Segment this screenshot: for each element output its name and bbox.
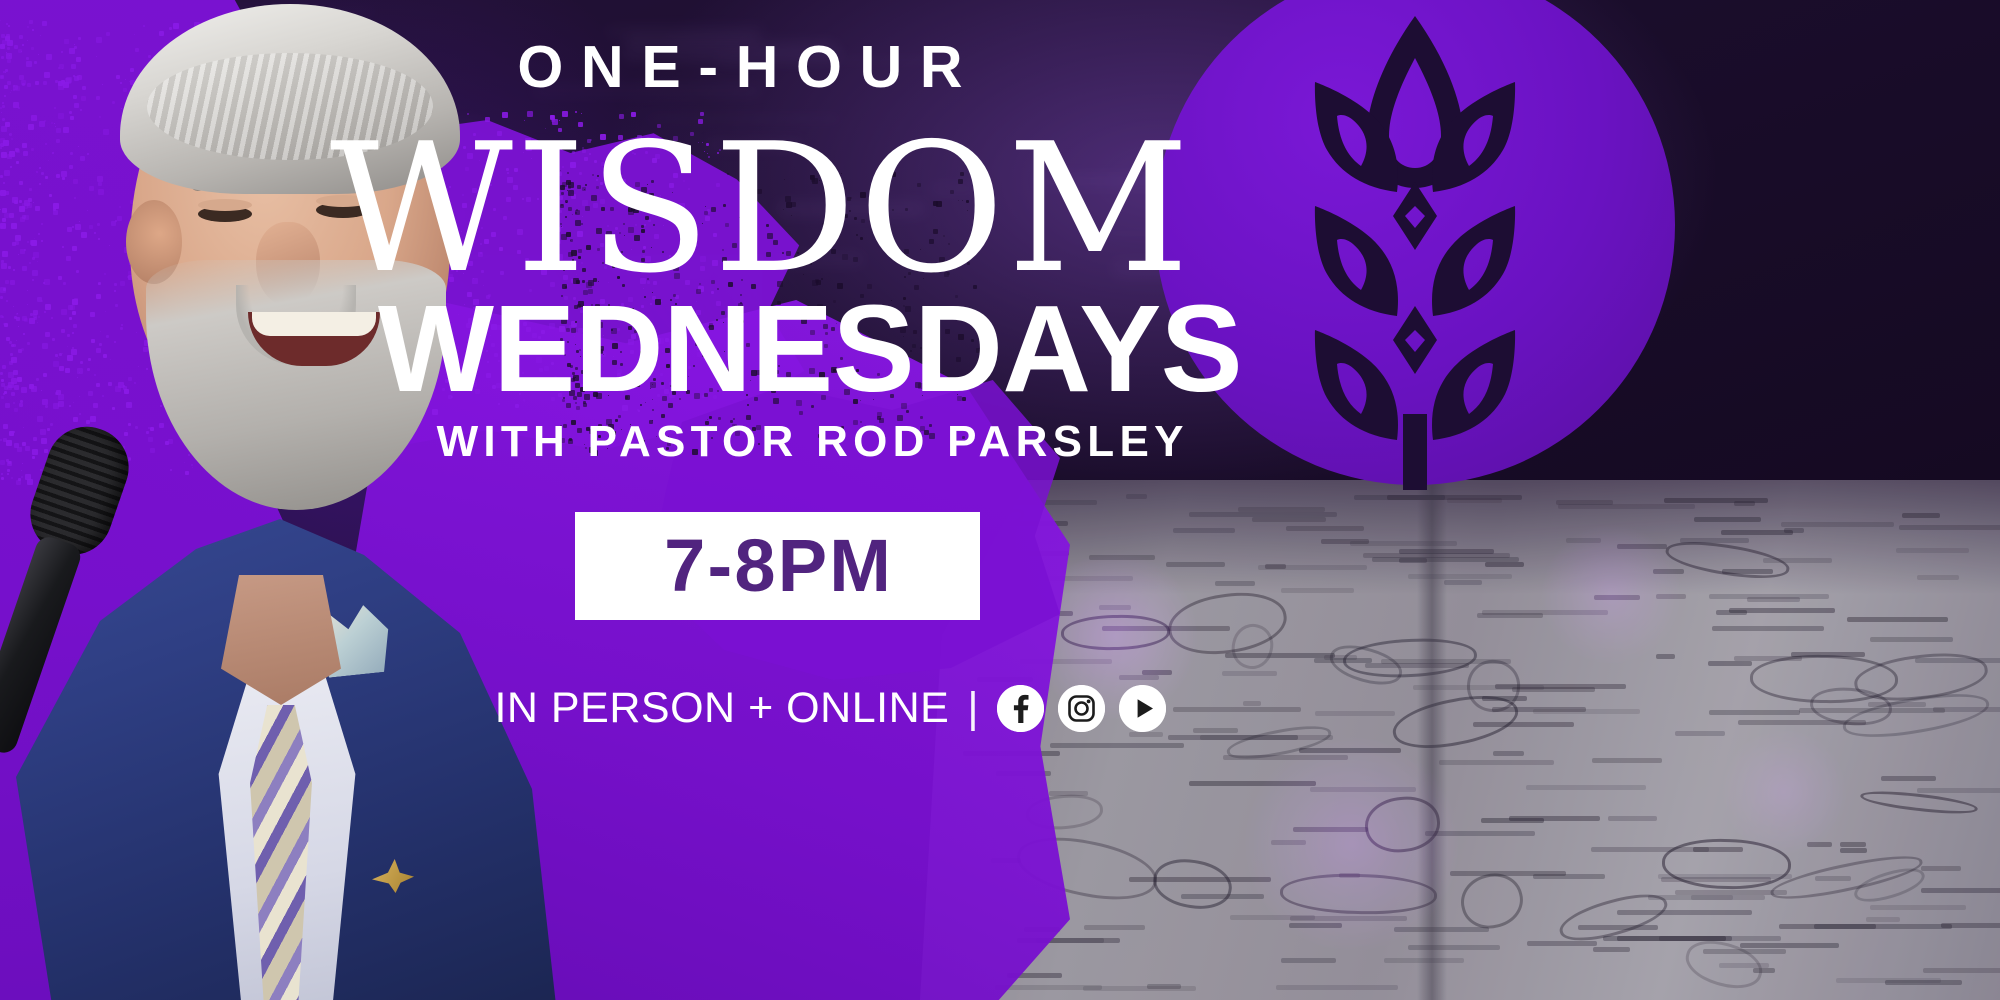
time-badge: 7-8PM xyxy=(575,512,980,620)
text-content: ONE-HOUR WISDOM WEDNESDAYS WITH PASTOR R… xyxy=(0,0,2000,1000)
promo-graphic: ONE-HOUR WISDOM WEDNESDAYS WITH PASTOR R… xyxy=(0,0,2000,1000)
youtube-play-icon[interactable] xyxy=(1119,685,1166,732)
footer-row: IN PERSON + ONLINE | xyxy=(380,680,1280,736)
title-wednesdays: WEDNESDAYS xyxy=(280,288,1340,411)
subtitle-with-pastor: WITH PASTOR ROD PARSLEY xyxy=(330,420,1290,464)
instagram-icon[interactable] xyxy=(1058,685,1105,732)
attendance-label: IN PERSON + ONLINE xyxy=(494,684,949,733)
facebook-icon[interactable] xyxy=(997,685,1044,732)
footer-separator: | xyxy=(967,684,978,733)
kicker-text: ONE-HOUR xyxy=(380,38,1100,97)
title-wisdom: WISDOM xyxy=(330,120,1190,298)
social-icons xyxy=(997,685,1166,732)
time-value: 7-8PM xyxy=(662,529,893,603)
